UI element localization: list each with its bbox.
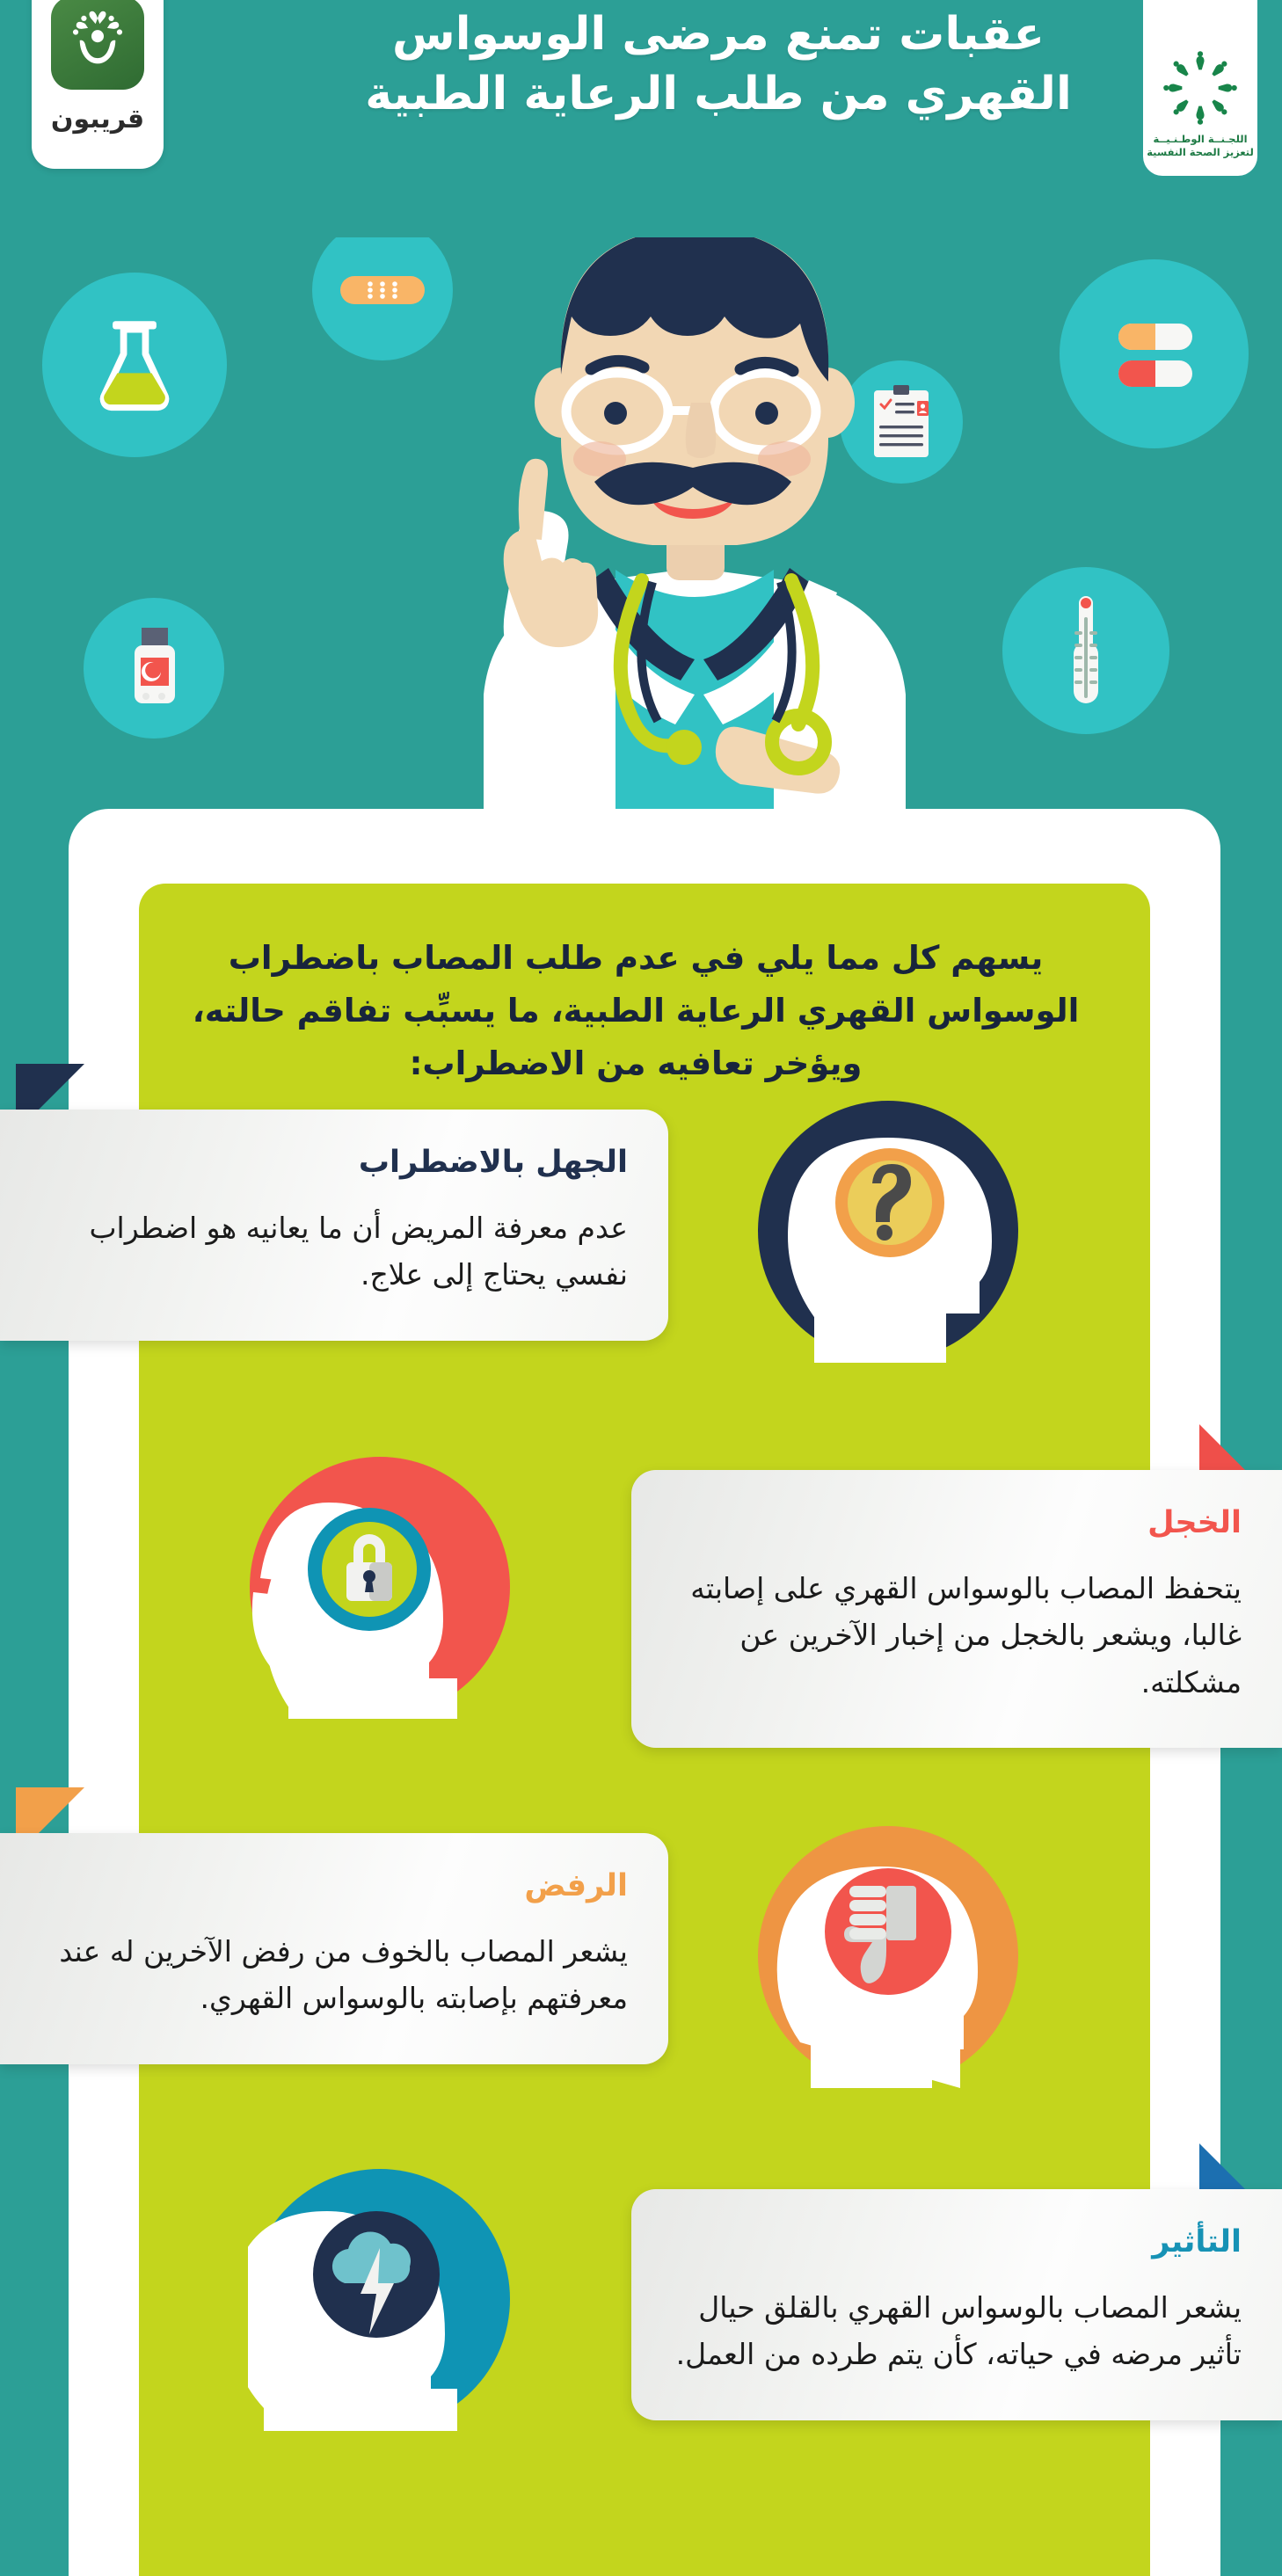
card-surface: الجهل بالاضطراب عدم معرفة المريض أن ما ي… — [0, 1110, 668, 1341]
obstacle-card-rejection: الرفض يشعر المصاب بالخوف من رفض الآخرين … — [0, 1833, 668, 2064]
head-question-mark-icon — [756, 1099, 1020, 1366]
card-body-text: يشعر المصاب بالخوف من رفض الآخرين له عند… — [40, 1928, 628, 2022]
brand-plate: قريبون — [32, 0, 164, 169]
obstacle-card-impact: التأثير يشعر المصاب بالوسواس القهري بالق… — [631, 2189, 1282, 2420]
card-body-text: يشعر المصاب بالوسواس القهري بالقلق حيال … — [672, 2284, 1242, 2378]
head-padlock-icon — [248, 1455, 512, 1722]
pills-icon — [1060, 259, 1249, 448]
page-title-line-2: القهري من طلب الرعاية الطبية — [310, 65, 1127, 125]
card-surface: التأثير يشعر المصاب بالوسواس القهري بالق… — [631, 2189, 1282, 2420]
org-logo-caption: اللجـنــة الوطـنـيــة لتعزيز الصحة النفس… — [1147, 133, 1254, 160]
national-mental-health-committee-logo-icon — [1162, 50, 1238, 126]
medicine-bottle-icon — [84, 598, 224, 739]
card-surface: الخجل يتحفظ المصاب بالوسواس القهري على إ… — [631, 1470, 1282, 1748]
card-title: الجهل بالاضطراب — [40, 1145, 628, 1180]
qaribon-people-logo-icon — [51, 0, 144, 90]
card-body-text: يتحفظ المصاب بالوسواس القهري على إصابته … — [672, 1565, 1242, 1706]
card-body-text: عدم معرفة المريض أن ما يعانيه هو اضطراب … — [40, 1204, 628, 1299]
org-logo-line-2: لتعزيز الصحة النفسية — [1147, 146, 1254, 160]
head-storm-cloud-icon — [248, 2167, 512, 2434]
card-title: الرفض — [40, 1868, 628, 1903]
obstacle-card-shame: الخجل يتحفظ المصاب بالوسواس القهري على إ… — [631, 1470, 1282, 1748]
page-title: عقبات تمنع مرضى الوسواس القهري من طلب ال… — [310, 5, 1127, 124]
org-logo-line-1: اللجـنــة الوطـنـيــة — [1147, 133, 1254, 147]
card-title: الخجل — [672, 1505, 1242, 1540]
flask-icon — [42, 273, 227, 457]
brand-name: قريبون — [51, 104, 144, 135]
org-logo-plate: اللجـنــة الوطـنـيــة لتعزيز الصحة النفس… — [1143, 0, 1257, 176]
card-surface: الرفض يشعر المصاب بالخوف من رفض الآخرين … — [0, 1833, 668, 2064]
thermometer-icon — [1002, 567, 1169, 734]
intro-text: يسهم كل مما يلي في عدم طلب المصاب باضطرا… — [165, 932, 1106, 1090]
page-header: قريبون عقبات تمنع مرضى الوسواس القهري من… — [0, 0, 1282, 237]
page-title-line-1: عقبات تمنع مرضى الوسواس — [310, 5, 1127, 65]
head-thumbs-down-icon — [756, 1824, 1020, 2092]
obstacle-card-ignorance: الجهل بالاضطراب عدم معرفة المريض أن ما ي… — [0, 1110, 668, 1341]
hero-illustration-area — [0, 211, 1282, 862]
doctor-pointing-up-illustration — [352, 211, 932, 839]
card-title: التأثير — [672, 2224, 1242, 2259]
